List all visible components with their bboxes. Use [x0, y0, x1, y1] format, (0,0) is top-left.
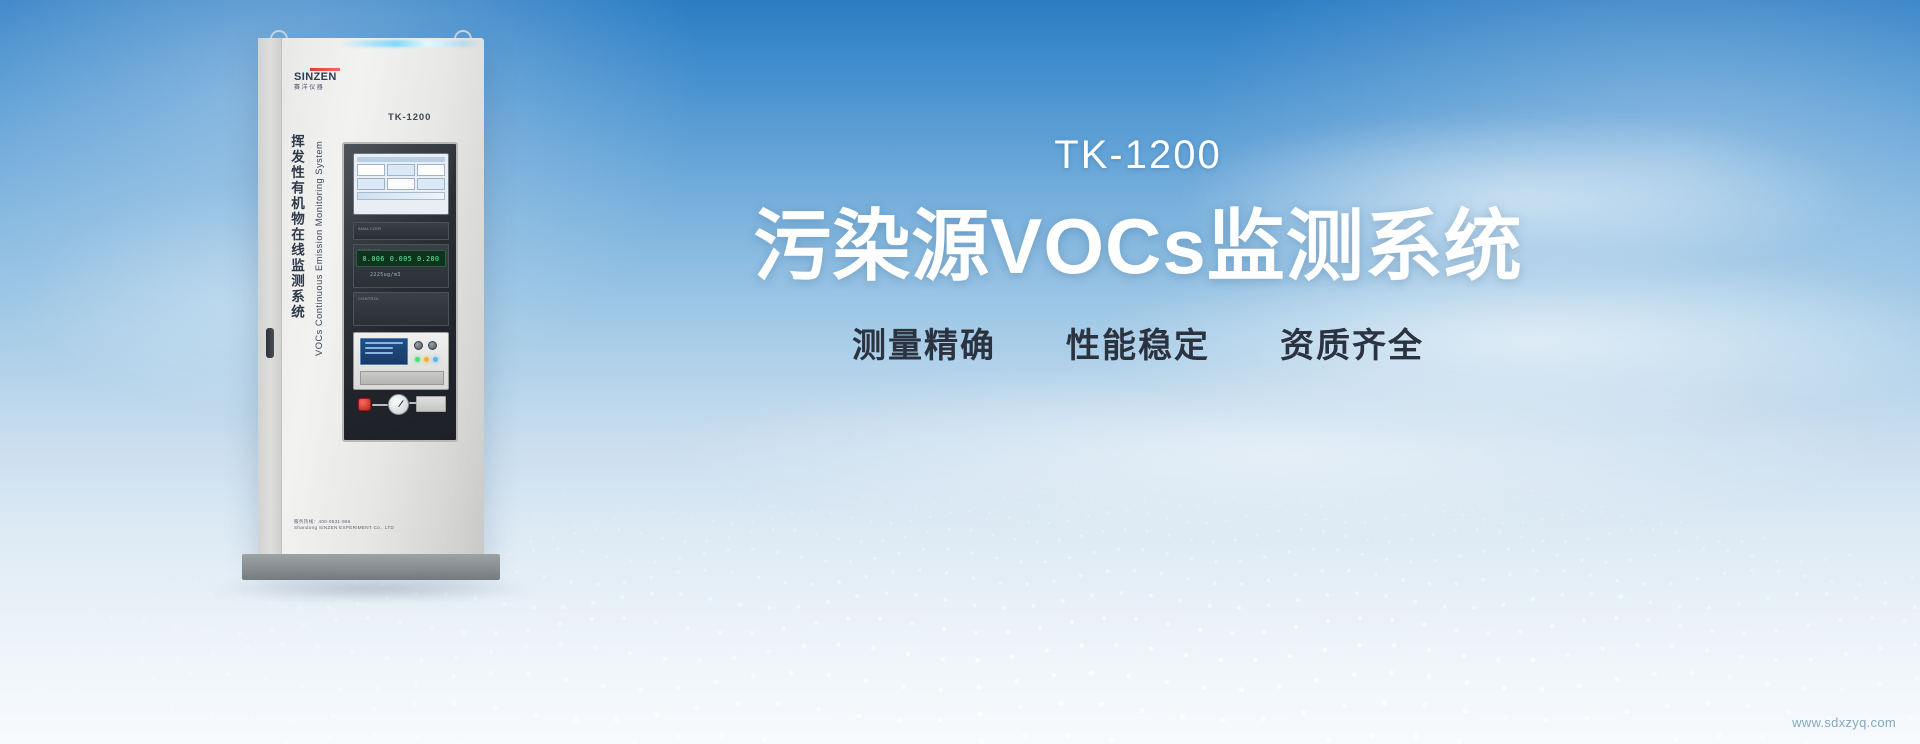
rack-label: CONTROL: [358, 296, 380, 301]
pressure-gauge: [388, 394, 409, 415]
product-hero-banner: SINZEN 赛洋仪器 TK-1200 挥发性有机物在线监测系统 VOCs Co…: [0, 0, 1920, 744]
brand-name: SINZEN: [294, 72, 360, 83]
lcd-text-line: [365, 342, 403, 344]
gas-tube: [409, 402, 417, 404]
cabinet-model-label: TK-1200: [388, 112, 431, 123]
site-watermark: www.sdxzyq.com: [1792, 715, 1896, 730]
instrument-rack-row: CONTROL: [353, 292, 449, 326]
readout-value: 0.005: [390, 255, 412, 263]
emergency-stop-button: [358, 398, 371, 411]
cabinet-nameplate: 服务热线：400-0531-966 Shandong SINZEN EXPERI…: [294, 519, 444, 532]
nameplate-line: Shandong SINZEN EXPERIMENT Co., LTD: [294, 525, 444, 532]
hmi-title-bar: [357, 157, 445, 162]
cabinet-vertical-label-en: VOCs Continuous Emission Monitoring Syst…: [314, 138, 324, 356]
cabinet-brand-logo: SINZEN 赛洋仪器: [294, 68, 360, 92]
instrument-rack-row: ANALYZER: [353, 222, 449, 240]
cabinet-top-highlight: [340, 40, 480, 47]
hmi-tile: [387, 178, 415, 190]
control-knob: [428, 341, 437, 350]
lcd-text-line: [365, 352, 393, 354]
readout-value: 0.200: [417, 255, 439, 263]
hmi-tile: [357, 178, 385, 190]
feature-item: 性能稳定: [1066, 326, 1210, 366]
door-handle: [266, 328, 274, 358]
cabinet-base-plinth: [242, 554, 500, 580]
cabinet-glass-door: ANALYZER SAMPLING CONTROL 0.006 0.005 0.…: [342, 142, 458, 442]
valve-manifold: [416, 396, 446, 412]
status-led-blue: [433, 357, 438, 362]
feature-item: 测量精确: [852, 326, 996, 366]
cabinet-ground-shadow: [208, 578, 538, 600]
hmi-tile: [357, 164, 385, 176]
cabinet-side-panel: [258, 38, 282, 554]
feature-item: 资质齐全: [1280, 326, 1424, 366]
hero-copy-block: TK-1200 污染源VOCs监测系统 测量精确 性能稳定 资质齐全: [548, 132, 1728, 366]
product-cabinet: SINZEN 赛洋仪器 TK-1200 挥发性有机物在线监测系统 VOCs Co…: [258, 18, 498, 584]
status-led-green: [415, 357, 420, 362]
hmi-touchscreen: [353, 153, 449, 215]
hmi-tile: [417, 178, 445, 190]
status-led-amber: [424, 357, 429, 362]
control-knob: [414, 341, 423, 350]
rack-label: ANALYZER: [358, 226, 381, 231]
analyzer-module: [353, 332, 449, 390]
hmi-tile: [417, 164, 445, 176]
gas-tube: [372, 404, 388, 406]
brand-name-cn: 赛洋仪器: [294, 84, 360, 92]
hmi-tile-grid: [357, 164, 445, 190]
hmi-tile: [387, 164, 415, 176]
hero-model-code: TK-1200: [548, 132, 1728, 178]
cabinet-vertical-label-cn: 挥发性有机物在线监测系统: [291, 134, 308, 320]
analyzer-lcd-screen: [360, 338, 408, 365]
hero-feature-list: 测量精确 性能稳定 资质齐全: [548, 326, 1728, 366]
module-front-strip: [360, 371, 444, 385]
hero-headline: 污染源VOCs监测系统: [548, 200, 1728, 292]
cabinet-body: SINZEN 赛洋仪器 TK-1200 挥发性有机物在线监测系统 VOCs Co…: [258, 38, 484, 554]
hmi-status-strip: [357, 192, 445, 200]
secondary-readout: 2225ug/m3: [370, 272, 401, 278]
lcd-text-line: [365, 347, 393, 349]
readout-value: 0.006: [362, 255, 384, 263]
digital-readout-display: 0.006 0.005 0.200: [356, 250, 446, 267]
nameplate-line: 服务热线：400-0531-966: [294, 519, 444, 526]
